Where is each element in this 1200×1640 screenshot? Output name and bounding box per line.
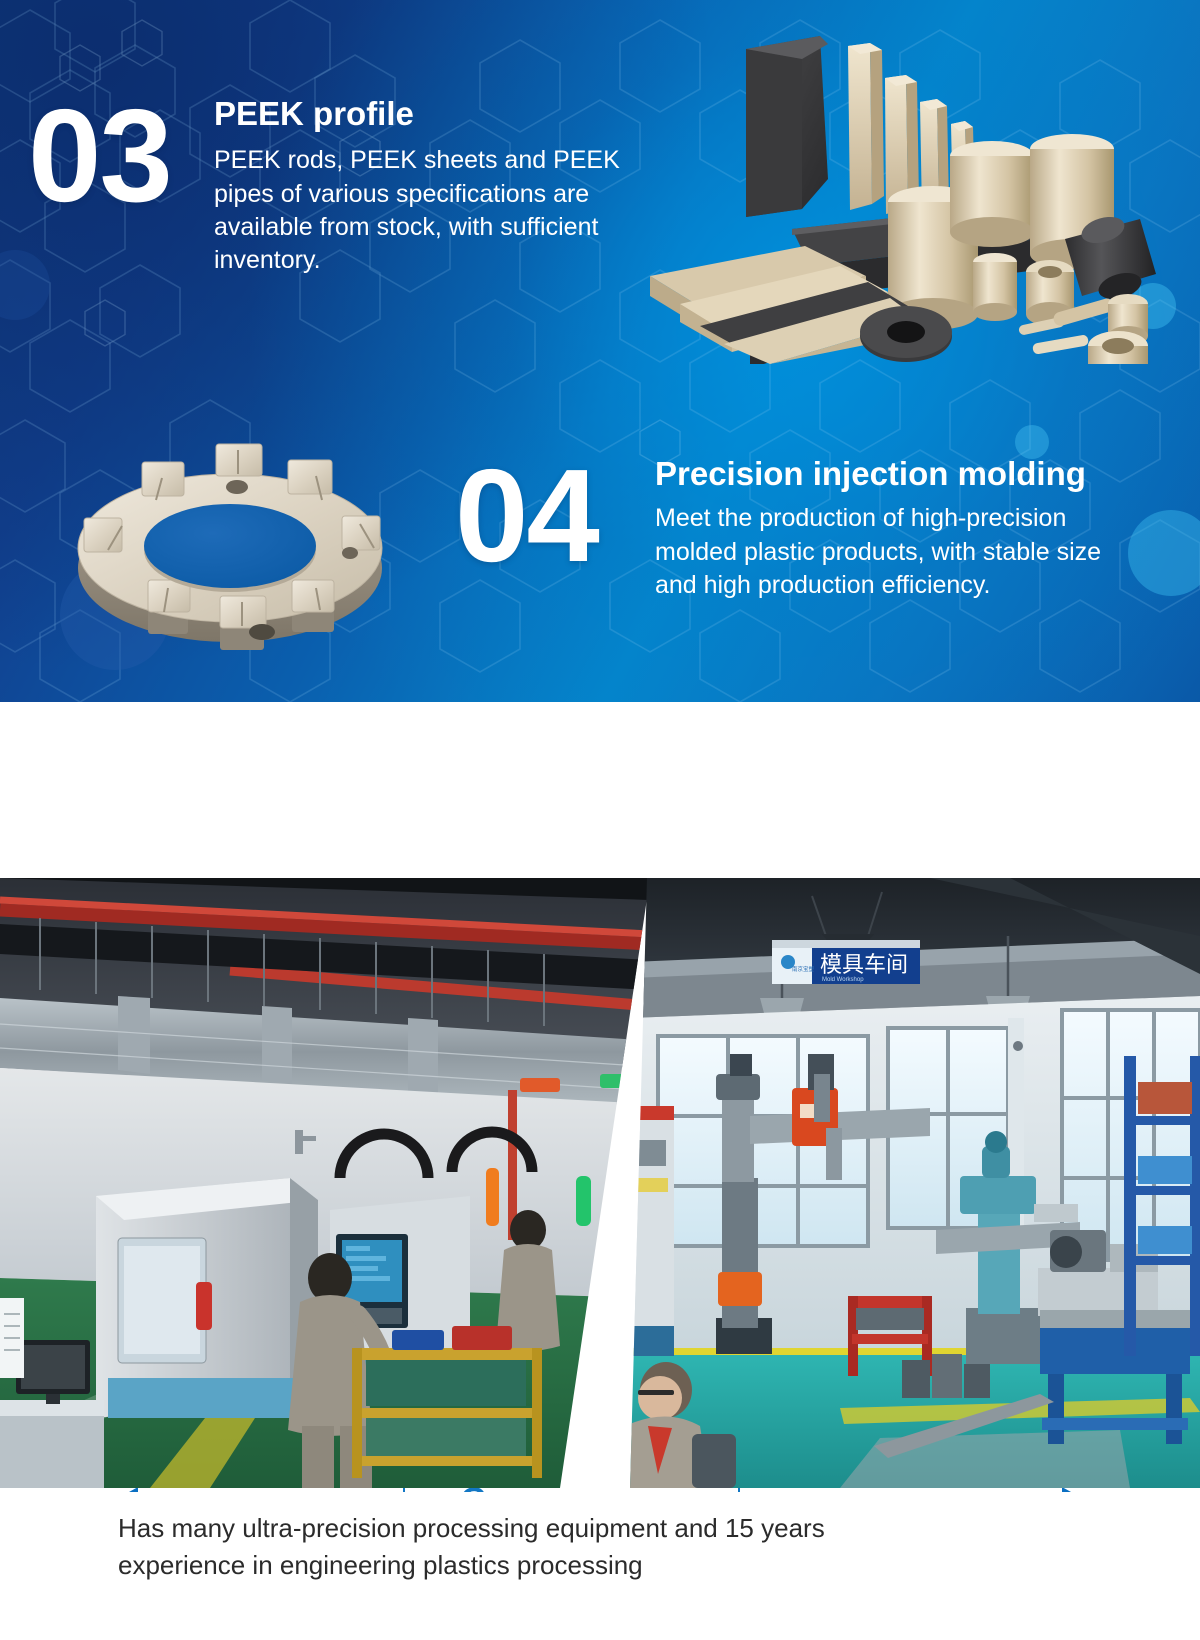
svg-text:Mold Workshop: Mold Workshop (822, 977, 864, 983)
peek-black-block (746, 36, 828, 217)
feature-body-03: PEEK rods, PEEK sheets and PEEK pipes of… (214, 144, 634, 277)
peek-rod-small (973, 253, 1017, 321)
peek-gear-ring-image (30, 400, 430, 690)
peek-black-ring (860, 306, 952, 362)
caption-line-2: experience in engineering plastics proce… (118, 1547, 1100, 1584)
work-cart (352, 1326, 542, 1478)
page-caption: Has many ultra-precision processing equi… (0, 1492, 1200, 1640)
machine-cabinet-left (630, 1106, 674, 1356)
feature-title-04: Precision injection molding (655, 456, 1135, 492)
svg-text:南京宝塑: 南京宝塑 (792, 965, 815, 973)
hero-panel: 03 PEEK profile PEEK rods, PEEK sheets a… (0, 0, 1200, 702)
strengths-banner: Our strengths (0, 702, 1200, 878)
feature-number-03: 03 (28, 90, 214, 222)
peek-tube-right-2 (1088, 331, 1148, 364)
feature-body-04: Meet the production of high-precision mo… (655, 502, 1135, 602)
peek-rod-medium (950, 141, 1034, 247)
feature-block-03: 03 PEEK profile PEEK rods, PEEK sheets a… (28, 90, 634, 277)
photo-mold-workshop: 南京宝塑 模具车间 Mold Workshop (630, 878, 1200, 1488)
cnc-machine (96, 1178, 318, 1418)
caption-line-1: Has many ultra-precision processing equi… (118, 1510, 1100, 1547)
peek-profile-product-image (620, 14, 1200, 364)
feature-number-04: 04 (455, 450, 655, 582)
photo-cnc-machining-workshop (0, 878, 650, 1488)
svg-text:模具车间: 模具车间 (820, 953, 908, 978)
factory-photo-gallery: 南京宝塑 模具车间 Mold Workshop (0, 878, 1200, 1488)
feature-block-04: 04 Precision injection molding Meet the … (455, 450, 1135, 602)
feature-title-03: PEEK profile (214, 96, 634, 132)
